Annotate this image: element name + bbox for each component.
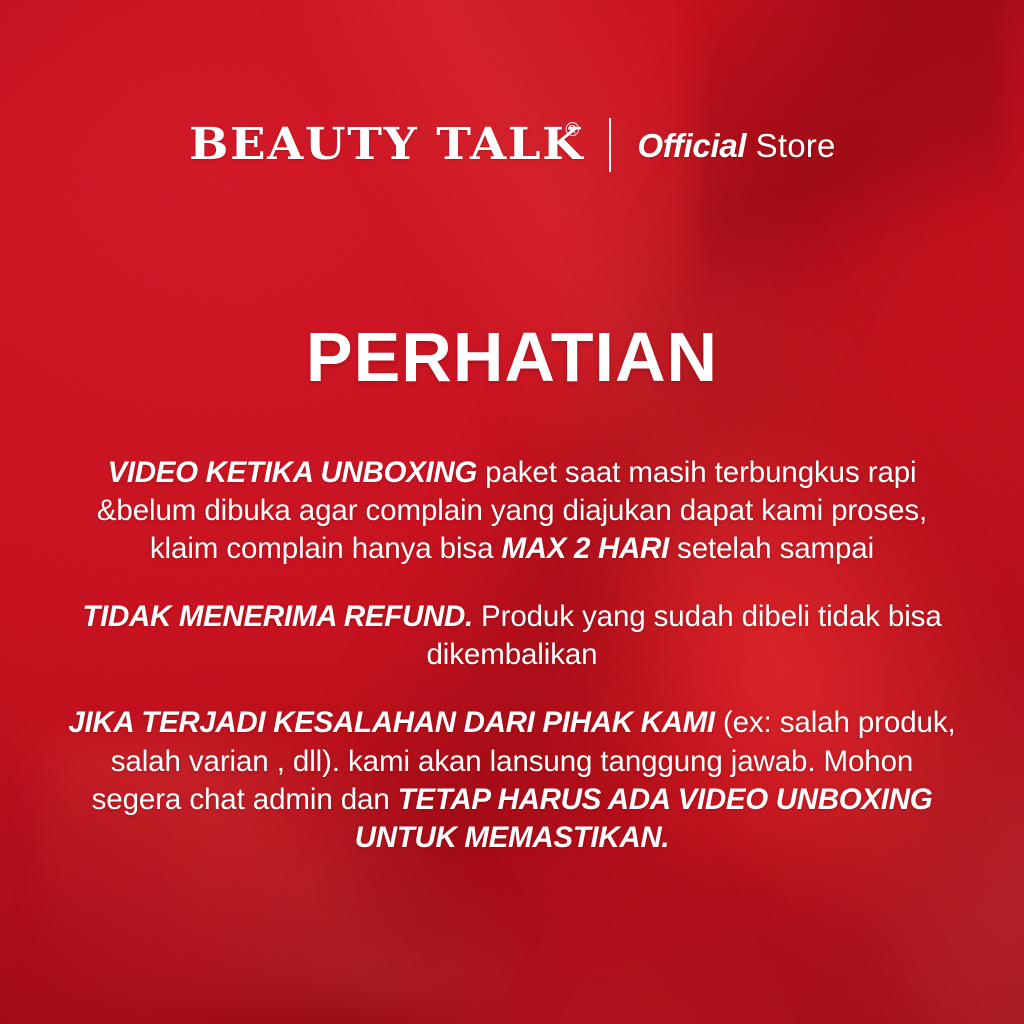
official-store-regular-word: Store xyxy=(746,127,835,164)
emphasized-text-run: TETAP HARUS ADA VIDEO UNBOXING UNTUK MEM… xyxy=(355,783,933,854)
emphasized-text-run: MAX 2 HARI xyxy=(501,532,668,565)
emphasized-text-run: VIDEO KETIKA UNBOXING xyxy=(107,456,477,489)
text-run: setelah sampai xyxy=(669,532,874,565)
official-store-label: Official Store xyxy=(637,129,835,162)
policy-paragraph: VIDEO KETIKA UNBOXING paket saat masih t… xyxy=(62,454,962,569)
policy-paragraph: TIDAK MENERIMA REFUND. Produk yang sudah… xyxy=(62,598,962,675)
poster-content: BEAUTY TALK ® Official Store PERHATIAN V… xyxy=(0,0,1024,1024)
brand-header: BEAUTY TALK ® Official Store xyxy=(0,118,1024,172)
poster-canvas: BEAUTY TALK ® Official Store PERHATIAN V… xyxy=(0,0,1024,1024)
official-store-bold-word: Official xyxy=(637,127,746,164)
brand-divider xyxy=(609,118,611,172)
emphasized-text-run: JIKA TERJADI KESALAHAN DARI PIHAK KAMI xyxy=(68,706,714,739)
policy-paragraph: JIKA TERJADI KESALAHAN DARI PIHAK KAMI (… xyxy=(62,704,962,857)
text-run: Produk yang sudah dibeli tidak bisa dike… xyxy=(427,600,942,671)
policy-text-block: VIDEO KETIKA UNBOXING paket saat masih t… xyxy=(62,424,962,887)
page-title: PERHATIAN xyxy=(0,322,1024,392)
brand-logo-wordmark: BEAUTY TALK xyxy=(189,123,584,167)
emphasized-text-run: TIDAK MENERIMA REFUND. xyxy=(82,600,473,633)
brand-logo: BEAUTY TALK ® xyxy=(189,123,580,167)
